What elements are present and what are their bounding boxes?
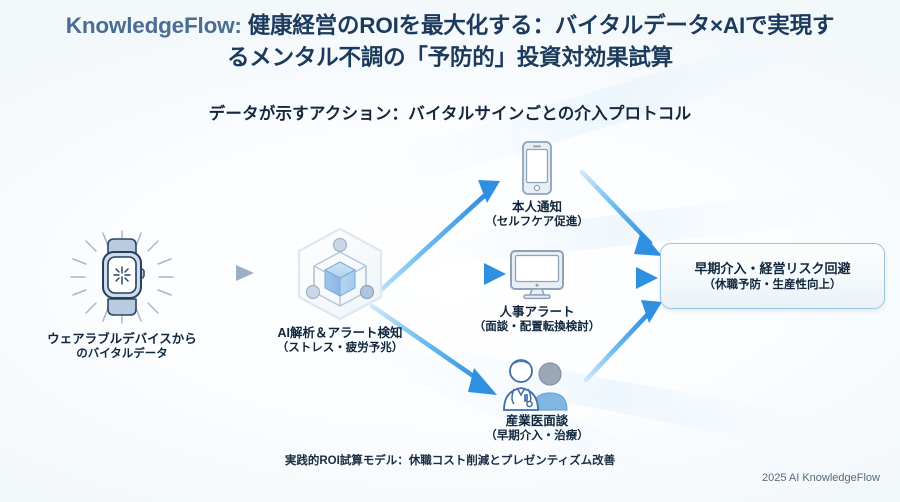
node-wearable[interactable]: ウェアラブルデバイスから のバイタルデータ <box>22 228 222 362</box>
page-title: KnowledgeFlow: 健康経営のROIを最大化する：バイタルデータ×AI… <box>0 10 900 74</box>
node-phone-label: 本人通知 <box>452 200 622 215</box>
node-wearable-sub: のバイタルデータ <box>22 347 222 362</box>
outcome-main-label: 早期介入・経営リスク回避 <box>694 260 850 277</box>
node-doctor-label: 産業医面談 <box>452 414 622 429</box>
subtitle: データが示すアクション：バイタルサインごとの介入プロトコル <box>0 100 900 124</box>
node-hub-label: AI解析＆アラート検知 <box>250 326 430 341</box>
node-ai-hub[interactable]: AI解析＆アラート検知 （ストレス・疲労予兆） <box>250 226 430 356</box>
node-occupational-physician[interactable]: 産業医面談 （早期介入・治療） <box>452 358 622 444</box>
title-line-1: KnowledgeFlow: 健康経営のROIを最大化する：バイタルデータ×AI… <box>18 10 882 42</box>
doctor-patient-icon <box>452 358 622 410</box>
ai-hexagon-cube-icon <box>250 226 430 322</box>
node-hub-sub: （ストレス・疲労予兆） <box>250 341 430 356</box>
smartwatch-icon <box>22 228 222 326</box>
smartphone-icon <box>452 142 622 194</box>
node-doctor-sub: （早期介入・治療） <box>452 429 622 444</box>
node-monitor-sub: （面談・配置転換検討） <box>452 320 622 335</box>
node-monitor-label: 人事アラート <box>452 305 622 320</box>
node-phone-sub: （セルフケア促進） <box>452 215 622 230</box>
slide-canvas: KnowledgeFlow: 健康経営のROIを最大化する：バイタルデータ×AI… <box>0 0 900 502</box>
bottom-caption: 実践的ROI試算モデル：休職コスト削減とプレゼンティズム改善 <box>0 452 900 468</box>
footer-credit: 2025 AI KnowledgeFlow <box>762 472 880 484</box>
title-text-1: 健康経営のROIを最大化する：バイタルデータ×AIで実現す <box>242 13 835 38</box>
node-wearable-label: ウェアラブルデバイスから <box>22 332 222 347</box>
desktop-monitor-icon <box>452 250 622 300</box>
node-hr-alert[interactable]: 人事アラート （面談・配置転換検討） <box>452 250 622 335</box>
outcome-box[interactable]: 早期介入・経営リスク回避 （休職予防・生産性向上） <box>660 243 885 309</box>
title-line-2: るメンタル不調の「予防的」投資対効果試算 <box>18 42 882 74</box>
outcome-sub-label: （休職予防・生産性向上） <box>704 277 842 293</box>
brand-name: KnowledgeFlow: <box>66 13 242 38</box>
node-self-notification[interactable]: 本人通知 （セルフケア促進） <box>452 142 622 230</box>
